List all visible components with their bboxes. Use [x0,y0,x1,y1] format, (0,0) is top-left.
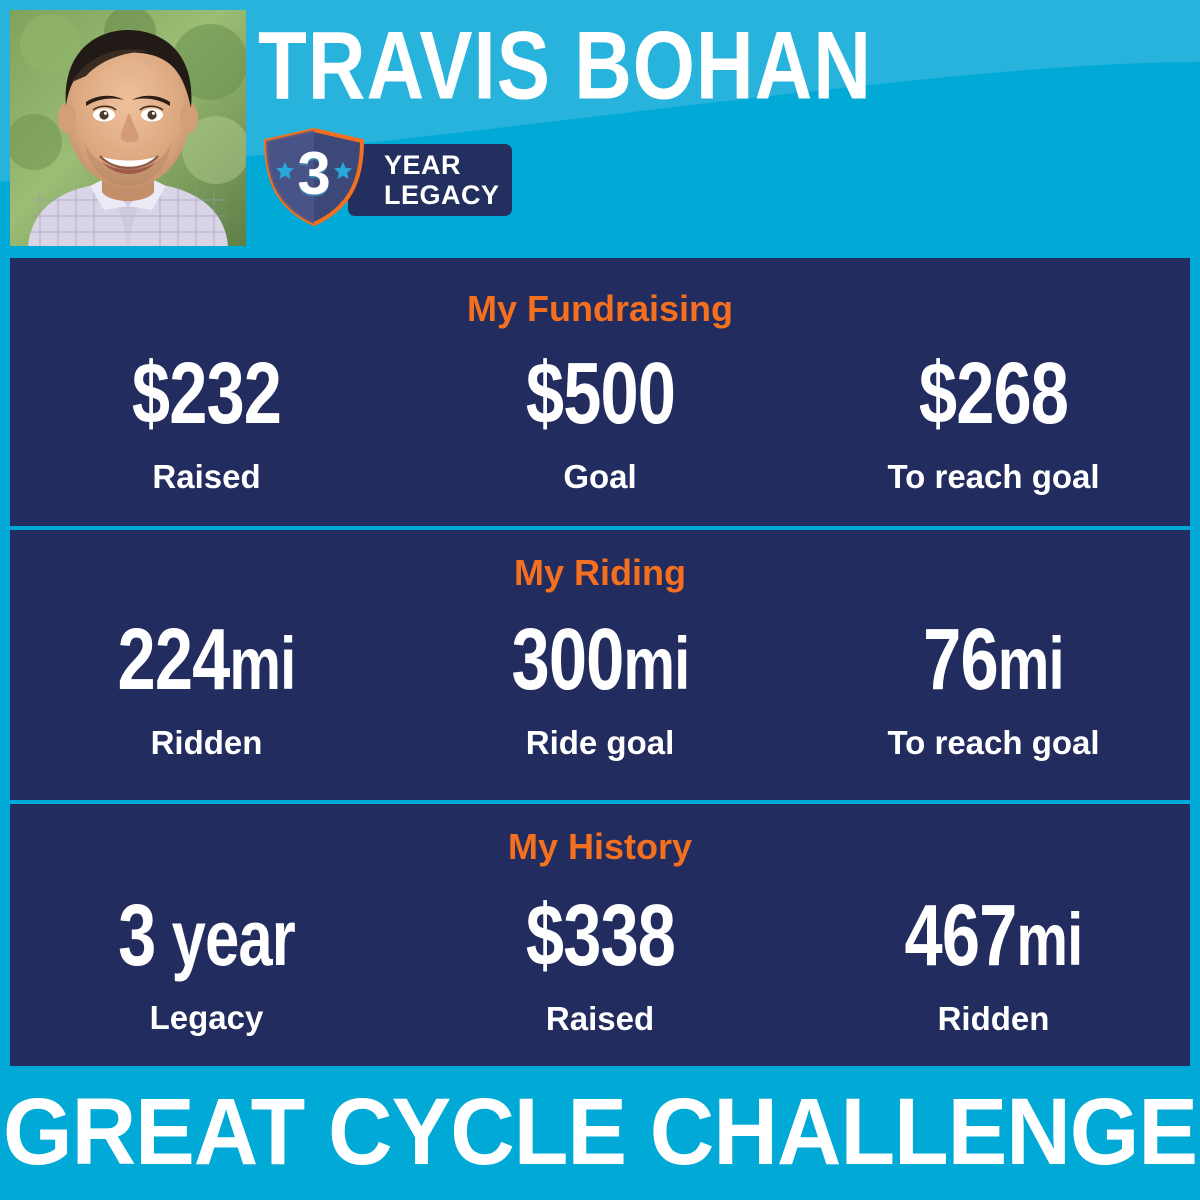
stat-ridden: 224mi Ridden [10,616,403,762]
stat-raised-label: Raised [10,458,403,496]
stat-miles-to-goal: 76mi To reach goal [797,616,1190,762]
stat-goal-number: $500 [525,343,674,442]
stat-ride-goal: 300mi Ride goal [404,616,797,762]
section-title-riding: My Riding [10,552,1190,594]
section-title-fundraising: My Fundraising [10,288,1190,330]
stat-miles-to-goal-label: To reach goal [797,724,1190,762]
stat-history-raised: $338 Raised [404,892,797,1038]
stat-ride-goal-value: 300mi [427,611,773,712]
stat-raised-value: $232 [34,345,380,446]
stat-ridden-unit: mi [229,622,295,705]
stat-history-raised-number: $338 [525,885,674,984]
stat-goal: $500 Goal [404,350,797,496]
legacy-plate: YEAR LEGACY [348,144,512,216]
legacy-badge: YEAR LEGACY 3 [262,128,512,226]
stat-legacy: 3 year Legacy [10,892,403,1037]
section-riding: My Riding 224mi Ridden 300mi Ride goal [10,530,1190,800]
stat-history-ridden-value: 467mi [821,887,1167,988]
stats-row-fundraising: $232 Raised $500 Goal $268 To reach goal [10,350,1190,496]
stat-history-ridden-number: 467 [905,885,1017,984]
stat-ridden-label: Ridden [10,724,403,762]
stat-history-ridden: 467mi Ridden [797,892,1190,1038]
stat-raised: $232 Raised [10,350,403,496]
stat-to-reach-goal-label: To reach goal [797,458,1190,496]
stat-ridden-number: 224 [118,609,230,708]
stat-ridden-value: 224mi [34,611,380,712]
poster-header: TRAVIS BOHAN YEAR LEGACY 3 [0,0,1200,258]
stat-miles-to-goal-number: 76 [923,609,998,708]
legacy-year-label: YEAR [384,150,510,180]
stat-to-reach-goal-value: $268 [821,345,1167,446]
stat-history-raised-value: $338 [427,887,773,988]
legacy-year-count: 3 [262,142,366,206]
section-history: My History 3 year Legacy $338 Raised [10,804,1190,1066]
stat-ride-goal-unit: mi [623,622,689,705]
stats-row-riding: 224mi Ridden 300mi Ride goal 76mi To rea… [10,616,1190,762]
stat-raised-number: $232 [132,343,281,442]
stat-legacy-label: Legacy [10,999,403,1037]
section-title-history: My History [10,826,1190,868]
stat-history-raised-label: Raised [404,1000,797,1038]
stat-to-reach-goal: $268 To reach goal [797,350,1190,496]
stat-legacy-unit: year [155,895,294,982]
stat-legacy-number: 3 [118,886,155,985]
shield-icon: 3 [262,128,366,226]
legacy-plate-text: YEAR LEGACY [384,150,510,210]
section-fundraising: My Fundraising $232 Raised $500 Goal [10,258,1190,526]
stats-row-history: 3 year Legacy $338 Raised 467mi Ridden [10,892,1190,1038]
stat-goal-value: $500 [427,345,773,446]
stat-miles-to-goal-value: 76mi [821,611,1167,712]
stat-miles-to-goal-unit: mi [998,622,1064,705]
stat-history-ridden-label: Ridden [797,1000,1190,1038]
stat-ride-goal-label: Ride goal [404,724,797,762]
stat-legacy-value: 3 year [34,887,380,987]
brand-wordmark: GREAT CYCLE CHALLENGE [0,1077,1200,1187]
stat-to-reach-goal-number: $268 [919,343,1068,442]
stat-goal-label: Goal [404,458,797,496]
page-title: TRAVIS BOHAN [258,10,1123,122]
rider-avatar [10,10,246,246]
stat-ride-goal-number: 300 [511,609,623,708]
rider-stats-poster: TRAVIS BOHAN YEAR LEGACY 3 [0,0,1200,1200]
stats-panel: My Fundraising $232 Raised $500 Goal [10,258,1190,1066]
brand-footer: GREAT CYCLE CHALLENGE [0,1066,1200,1200]
stat-history-ridden-unit: mi [1016,898,1082,981]
avatar-portrait-illustration [10,10,246,246]
legacy-legacy-label: LEGACY [384,180,510,210]
